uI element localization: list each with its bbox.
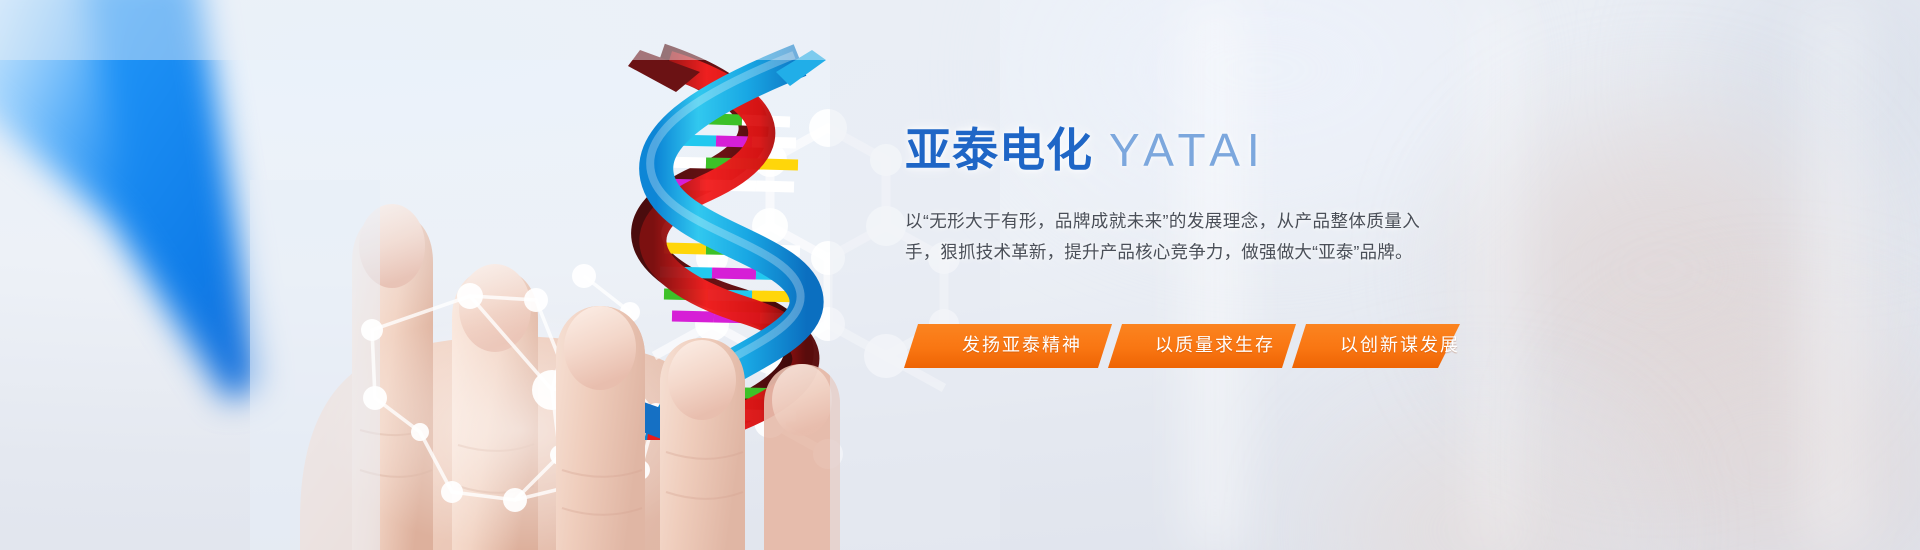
slogan-tag-label-1: 以质量求生存 xyxy=(1155,322,1275,368)
background-light-streak-2 xyxy=(1470,0,1526,550)
slogan-tag-label-0: 发扬亚泰精神 xyxy=(962,322,1082,368)
background-blur-cool xyxy=(1700,0,1920,200)
banner-copy: 亚泰电化YATAI 以“无形大于有形，品牌成就未来”的发展理念，从产品整体质量入… xyxy=(905,122,1545,268)
promo-banner: 亚泰电化YATAI 以“无形大于有形，品牌成就未来”的发展理念，从产品整体质量入… xyxy=(0,0,1920,550)
background-light-streak-1 xyxy=(1180,0,1250,550)
background-light-streak-3 xyxy=(1790,0,1880,550)
slogan-tag-strip: 发扬亚泰精神 以质量求生存 以创新谋发展 xyxy=(900,322,1460,372)
hand-with-dna-photo xyxy=(0,0,1000,550)
background-blur-warm-2 xyxy=(1600,330,1920,550)
banner-description: 以“无形大于有形，品牌成就未来”的发展理念，从产品整体质量入手，狠抓技术革新，提… xyxy=(905,206,1420,268)
title-english: YATAI xyxy=(1109,124,1267,176)
page-title: 亚泰电化YATAI xyxy=(905,122,1545,180)
slogan-tag-label-2: 以创新谋发展 xyxy=(1340,322,1460,368)
background-blur-warm-3 xyxy=(1330,420,1630,550)
title-chinese: 亚泰电化 xyxy=(905,124,1093,176)
